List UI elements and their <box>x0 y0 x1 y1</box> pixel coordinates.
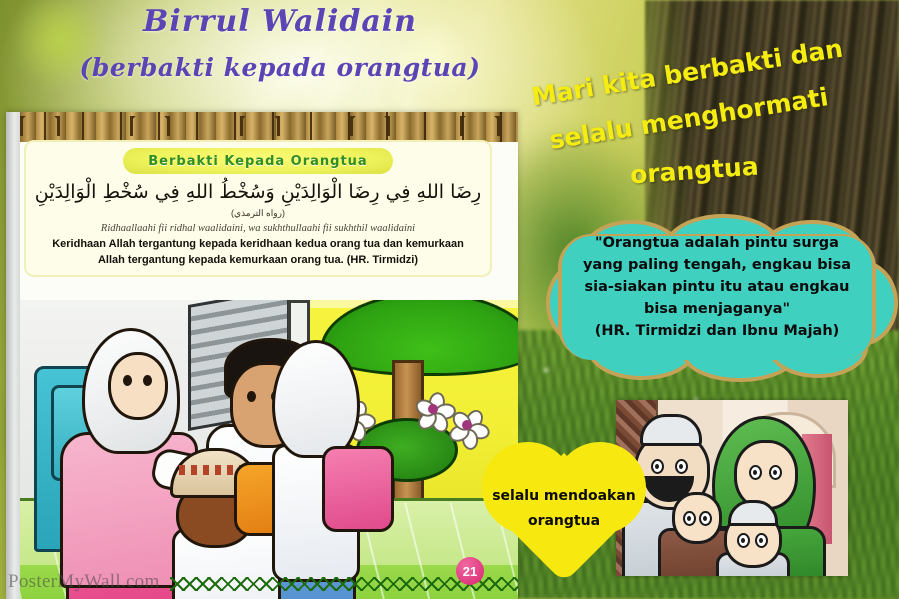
illustration-mother-face <box>108 352 168 420</box>
heart-text-block: selalu mendoakan orangtua <box>480 484 648 533</box>
poster-canvas: Birrul Walidain (berbakti kepada orangtu… <box>0 0 899 599</box>
illustration-flower <box>450 408 484 442</box>
family-daughter-head <box>672 492 722 544</box>
hadith-badge: Berbakti Kepada Orangtua <box>123 148 393 174</box>
quote-line-1: "Orangtua adalah pintu surga <box>560 232 874 254</box>
book-spine <box>6 112 20 599</box>
heart-callout: selalu mendoakan orangtua <box>480 438 648 598</box>
book-decorative-border <box>6 112 518 142</box>
quote-text-block: "Orangtua adalah pintu surga yang paling… <box>560 232 874 342</box>
textbook-page-image: Berbakti Kepada Orangtua رِضَا اللهِ فِي… <box>6 112 518 599</box>
hadith-translation-line-1: Keridhaan Allah tergantung kepada keridh… <box>34 237 482 251</box>
watermark: PosterMyWall.com <box>8 571 160 593</box>
illustration-flower <box>416 392 450 426</box>
family-mother-face <box>734 440 798 510</box>
quote-line-3: sia-siakan pintu itu atau engkau <box>560 276 874 298</box>
page-title: Birrul Walidain <box>0 4 560 39</box>
cartoon-family-image <box>616 400 848 576</box>
quote-source: (HR. Tirmidzi dan Ibnu Majah) <box>560 320 874 342</box>
hadith-quote-callout: "Orangtua adalah pintu surga yang paling… <box>552 218 882 374</box>
illustration-pink-backpack <box>322 446 394 532</box>
quote-line-4: bisa menjaganya" <box>560 298 874 320</box>
hadith-arabic-source: (رواه الترمذي) <box>34 208 482 219</box>
quote-line-2: yang paling tengah, engkau bisa <box>560 254 874 276</box>
book-illustration: 21 <box>20 300 518 599</box>
heart-line-1: selalu mendoakan <box>480 484 648 509</box>
hadith-transliteration: Ridhaallaahi fii ridhal waalidaini, wa s… <box>34 222 482 235</box>
hadith-arabic-text: رِضَا اللهِ فِي رِضَا الْوَالِدَيْنِ وَس… <box>34 178 482 207</box>
hadith-card: Berbakti Kepada Orangtua رِضَا اللهِ فِي… <box>24 140 492 277</box>
hadith-translation-line-2: Allah tergantung kepada kemurkaan orang … <box>34 253 482 267</box>
page-subtitle: (berbakti kepada orangtua) <box>0 53 560 82</box>
title-block: Birrul Walidain (berbakti kepada orangtu… <box>0 4 560 82</box>
heart-line-2: orangtua <box>480 509 648 534</box>
